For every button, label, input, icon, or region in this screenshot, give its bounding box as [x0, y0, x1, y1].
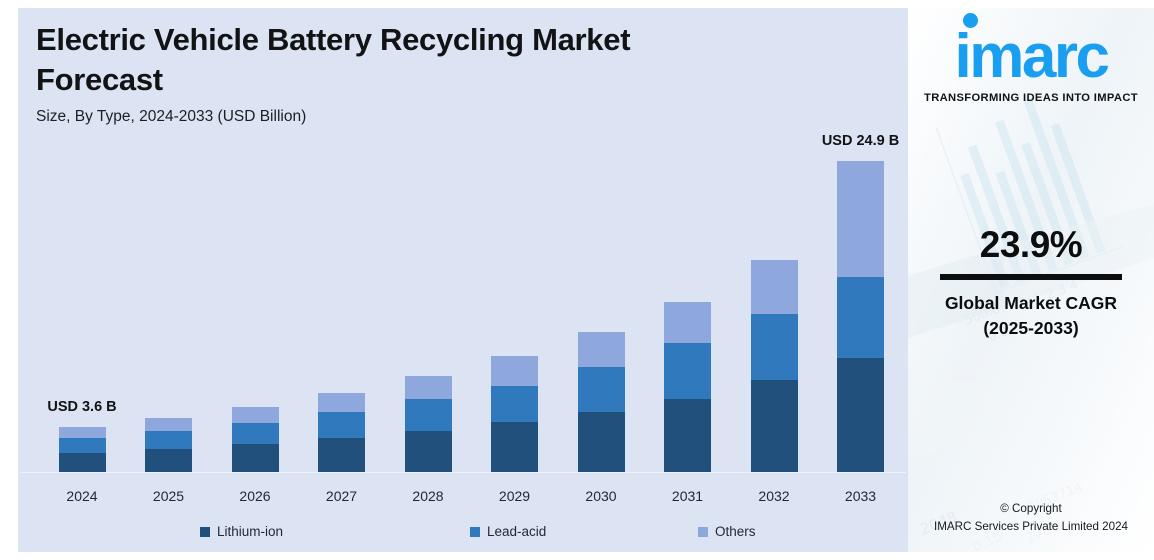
bar-segment-others-2031[interactable] [664, 302, 711, 343]
data-label-2033: USD 24.9 B [805, 133, 917, 149]
bar-stack [578, 332, 625, 472]
bar-group-2032[interactable] [730, 260, 818, 472]
legend-item-lithium-ion[interactable]: Lithium-ion [200, 524, 283, 539]
bar-segment-lead-acid-2027[interactable] [318, 412, 365, 438]
x-axis-label-2028: 2028 [384, 488, 472, 504]
plot-area: USD 3.6 BUSD 24.9 B 20242025202620272028… [18, 8, 908, 472]
bar-stack [232, 407, 279, 472]
bar-group-2033[interactable] [817, 161, 905, 472]
bar-group-2031[interactable] [644, 302, 732, 472]
bar-stack [405, 376, 452, 472]
bar-segment-others-2032[interactable] [751, 260, 798, 314]
chart-panel: Electric Vehicle Battery Recycling Marke… [18, 8, 908, 552]
logo-dot-icon [963, 13, 978, 28]
bar-segment-lead-acid-2029[interactable] [491, 386, 538, 421]
bar-stack [751, 260, 798, 472]
bar-group-2025[interactable] [125, 418, 213, 472]
x-axis-label-2026: 2026 [211, 488, 299, 504]
logo-wordmark: imarc [955, 26, 1108, 88]
cagr-period: (2025-2033) [908, 316, 1154, 341]
bar-stack [664, 302, 711, 472]
x-axis-label-2029: 2029 [471, 488, 559, 504]
legend-swatch-icon [470, 527, 480, 537]
bar-stack [145, 418, 192, 472]
cagr-divider [940, 274, 1122, 280]
cagr-caption: Global Market CAGR [908, 291, 1154, 316]
bar-segment-others-2030[interactable] [578, 332, 625, 367]
imarc-logo: imarc TRANSFORMING IDEAS INTO IMPACT [908, 26, 1154, 104]
bar-group-2028[interactable] [384, 376, 472, 472]
cagr-callout: 23.9% Global Market CAGR (2025-2033) [908, 226, 1154, 342]
bar-segment-lead-acid-2030[interactable] [578, 367, 625, 412]
bar-stack [837, 161, 884, 472]
bar-segment-others-2024[interactable] [59, 427, 106, 438]
bar-segment-others-2025[interactable] [145, 418, 192, 431]
x-axis-label-2031: 2031 [644, 488, 732, 504]
copyright-line-1: © Copyright [908, 500, 1154, 518]
bar-group-2030[interactable] [557, 332, 645, 472]
bar-segment-lithium-ion-2032[interactable] [751, 380, 798, 472]
bar-stack [318, 393, 365, 472]
bar-segment-lead-acid-2026[interactable] [232, 423, 279, 444]
bar-segment-lithium-ion-2027[interactable] [318, 438, 365, 472]
copyright-line-2: IMARC Services Private Limited 2024 [908, 518, 1154, 536]
infographic-root: Electric Vehicle Battery Recycling Marke… [0, 0, 1154, 560]
x-axis-label-2027: 2027 [298, 488, 386, 504]
bar-group-2029[interactable] [471, 356, 559, 472]
bar-segment-lithium-ion-2033[interactable] [837, 358, 884, 472]
bar-segment-lead-acid-2024[interactable] [59, 438, 106, 453]
bar-segment-lithium-ion-2031[interactable] [664, 399, 711, 472]
bar-segment-lead-acid-2033[interactable] [837, 277, 884, 359]
bar-segment-lead-acid-2032[interactable] [751, 314, 798, 380]
legend-swatch-icon [698, 527, 708, 537]
x-axis-label-2030: 2030 [557, 488, 645, 504]
x-axis-label-2032: 2032 [730, 488, 818, 504]
copyright-notice: © Copyright IMARC Services Private Limit… [908, 500, 1154, 536]
side-panel: 500.0 0.0 1 2 3 4 2048 0.15 2768 2853714 [908, 8, 1154, 552]
chart-legend: Lithium-ionLead-acidOthers [18, 520, 908, 548]
bar-segment-others-2028[interactable] [405, 376, 452, 399]
legend-label: Lead-acid [487, 524, 546, 539]
bar-stack [491, 356, 538, 472]
bar-segment-lead-acid-2031[interactable] [664, 343, 711, 399]
bar-group-2027[interactable] [298, 393, 386, 472]
bar-segment-lithium-ion-2029[interactable] [491, 422, 538, 472]
x-axis-label-2024: 2024 [38, 488, 126, 504]
axis-baseline [20, 472, 906, 473]
bar-segment-lithium-ion-2024[interactable] [59, 453, 106, 472]
bar-group-2024[interactable] [38, 427, 126, 472]
legend-swatch-icon [200, 527, 210, 537]
bar-segment-lead-acid-2028[interactable] [405, 399, 452, 431]
data-label-2024: USD 3.6 B [26, 399, 138, 415]
legend-label: Others [715, 524, 756, 539]
bar-stack [59, 427, 106, 472]
bar-segment-others-2033[interactable] [837, 161, 884, 277]
bar-group-2026[interactable] [211, 407, 299, 472]
logo-tagline: TRANSFORMING IDEAS INTO IMPACT [908, 92, 1154, 104]
bar-segment-lithium-ion-2028[interactable] [405, 431, 452, 472]
cagr-value: 23.9% [908, 226, 1154, 265]
bar-segment-lead-acid-2025[interactable] [145, 431, 192, 449]
bar-segment-others-2026[interactable] [232, 407, 279, 423]
bar-segment-lithium-ion-2026[interactable] [232, 444, 279, 472]
logo-wordmark-text: imarc [955, 22, 1108, 91]
legend-item-lead-acid[interactable]: Lead-acid [470, 524, 546, 539]
x-axis-label-2033: 2033 [817, 488, 905, 504]
bar-segment-lithium-ion-2025[interactable] [145, 449, 192, 472]
bar-segment-others-2029[interactable] [491, 356, 538, 387]
bar-segment-others-2027[interactable] [318, 393, 365, 412]
bar-segment-lithium-ion-2030[interactable] [578, 412, 625, 472]
legend-item-others[interactable]: Others [698, 524, 756, 539]
x-axis-label-2025: 2025 [125, 488, 213, 504]
legend-label: Lithium-ion [217, 524, 283, 539]
